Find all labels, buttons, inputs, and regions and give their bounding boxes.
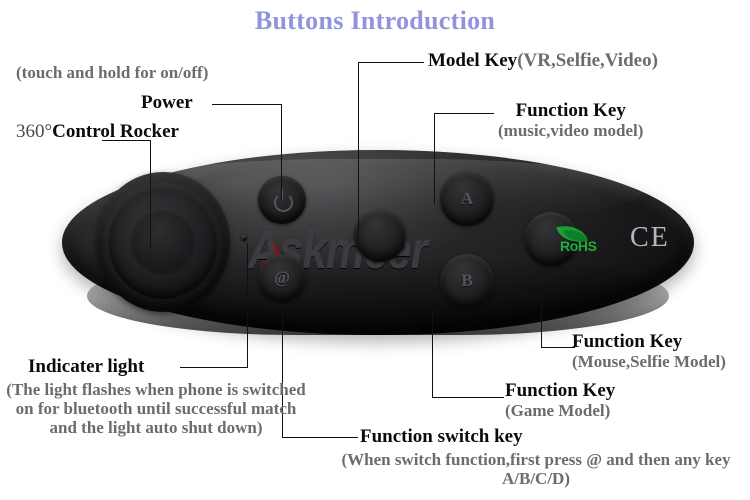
button-a-label: A (461, 189, 473, 209)
control-rocker-joystick[interactable] (96, 172, 230, 312)
rohs-mark: RoHS (556, 224, 616, 256)
at-sign-icon: @ (274, 268, 290, 288)
function-switch-key-description: (When switch function,first press @ and … (330, 450, 742, 488)
leader-rocker-vertical (150, 140, 151, 248)
leader-fnmusic-vertical (434, 113, 435, 205)
button-b-label: B (461, 271, 472, 291)
rocker-cap (130, 209, 196, 275)
rocker-inner-ring (108, 185, 218, 299)
power-note-label: (touch and hold for on/off) (16, 63, 208, 82)
leader-fnmouse-vertical (541, 268, 542, 348)
vr-remote-controller: Askmeer @ A B (62, 150, 694, 335)
page-title: Buttons Introduction (0, 6, 750, 36)
leader-fngame-vertical (432, 310, 433, 398)
power-button[interactable] (258, 176, 306, 224)
leader-fngame-horizontal (432, 397, 504, 398)
power-label: Power (141, 92, 193, 113)
leader-model-vertical (358, 62, 359, 240)
screenshot-canvas: Buttons Introduction Askmeer (0, 0, 750, 500)
leader-indicator-vertical (247, 243, 248, 368)
leader-fnmusic-horizontal (434, 113, 494, 114)
ce-mark: CE (630, 222, 670, 254)
function-key-mouse-label: Function Key (Mouse,Selfie Model) (572, 331, 726, 373)
rohs-label: RoHS (560, 238, 597, 254)
model-key-label: Model Key(VR,Selfie,Video) (428, 50, 658, 71)
function-key-game-label: Function Key (Game Model) (505, 380, 615, 422)
model-key-button[interactable] (354, 210, 406, 262)
indicator-light (241, 235, 247, 241)
indicator-light-label: Indicater light (28, 356, 144, 377)
leader-fnswitch-horizontal (282, 437, 358, 438)
indicator-light-description: (The light flashes when phone is switche… (6, 380, 306, 437)
function-switch-button[interactable]: @ (258, 254, 306, 302)
rocker-degrees: 360° (16, 121, 52, 142)
leader-power-horizontal (212, 104, 282, 105)
power-symbol-icon (272, 190, 292, 210)
button-a[interactable]: A (440, 172, 494, 226)
leader-model-horizontal (358, 62, 424, 63)
leader-indicator-horizontal (180, 367, 248, 368)
rocker-text: Control Rocker (52, 121, 179, 142)
function-key-music-label: Function Key (music,video model) (498, 100, 643, 142)
leader-fnmouse-horizontal (541, 347, 575, 348)
control-rocker-label: 360°Control Rocker (16, 121, 179, 142)
function-switch-key-label: Function switch key (360, 426, 523, 447)
button-b[interactable]: B (440, 254, 494, 308)
ce-label: CE (630, 222, 670, 254)
leader-power-vertical (281, 104, 282, 200)
